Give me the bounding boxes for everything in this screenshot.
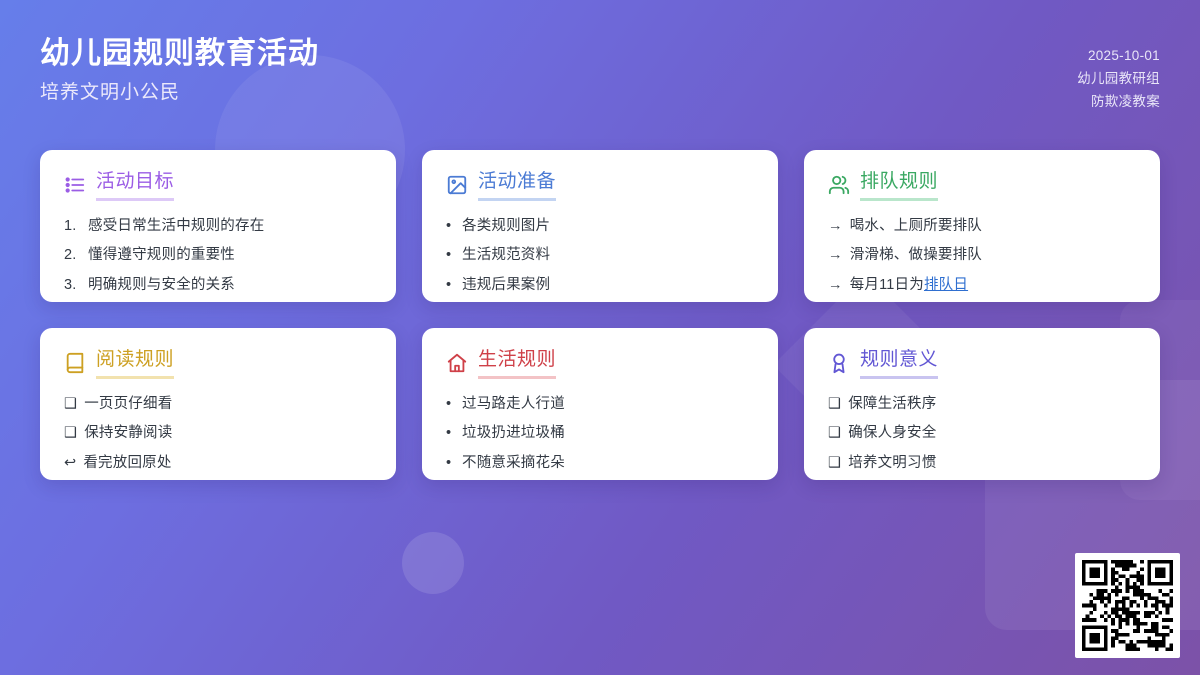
meta-date: 2025-10-01 — [1088, 44, 1160, 67]
card-activity-goals[interactable]: 活动目标1.感受日常生活中规则的存在2.懂得遵守规则的重要性3.明确规则与安全的… — [40, 150, 396, 302]
list-item-text: 明确规则与安全的关系 — [88, 274, 372, 296]
card-rule-meaning[interactable]: 规则意义❑保障生活秩序❑确保人身安全❑培养文明习惯 — [804, 328, 1160, 480]
card-header: 生活规则 — [446, 348, 754, 379]
card-list: →喝水、上厕所要排队→滑滑梯、做操要排队→每月11日为排队日 — [828, 215, 1136, 302]
card-list: •过马路走人行道•垃圾扔进垃圾桶•不随意采摘花朵 — [446, 393, 754, 480]
list-marker: • — [446, 215, 455, 237]
card-activity-preparation[interactable]: 活动准备•各类规则图片•生活规范资料•违规后果案例 — [422, 150, 778, 302]
list-item: •垃圾扔进垃圾桶 — [446, 422, 754, 444]
list-item: →每月11日为排队日 — [828, 274, 1136, 296]
card-queue-rules[interactable]: 排队规则→喝水、上厕所要排队→滑滑梯、做操要排队→每月11日为排队日 — [804, 150, 1160, 302]
list-item: •各类规则图片 — [446, 215, 754, 237]
list-marker: → — [828, 274, 843, 296]
card-title: 阅读规则 — [96, 348, 174, 379]
list-item-text: 各类规则图片 — [462, 215, 754, 237]
home-icon — [446, 352, 468, 374]
list-item-text: 过马路走人行道 — [462, 393, 754, 415]
list-item-text: 不随意采摘花朵 — [462, 452, 754, 474]
list-marker: 2. — [64, 244, 81, 266]
card-header: 阅读规则 — [64, 348, 372, 379]
card-header: 规则意义 — [828, 348, 1136, 379]
list-item: 3.明确规则与安全的关系 — [64, 274, 372, 296]
list-marker: • — [446, 274, 455, 296]
list-marker: → — [828, 244, 843, 266]
list-item: ❑一页页仔细看 — [64, 393, 372, 415]
card-title: 排队规则 — [860, 170, 938, 201]
list-item-text: 保障生活秩序 — [848, 393, 1136, 415]
list-item-text: 垃圾扔进垃圾桶 — [462, 422, 754, 444]
page-subtitle: 培养文明小公民 — [40, 81, 319, 106]
list-marker: ❑ — [64, 422, 77, 444]
list-marker: → — [828, 215, 843, 237]
qr-code-image — [1082, 560, 1173, 651]
list-item-text: 一页页仔细看 — [84, 393, 372, 415]
slide-header: 幼儿园规则教育活动 培养文明小公民 2025-10-01 幼儿园教研组 防欺凌教… — [0, 0, 1200, 148]
list-item: •违规后果案例 — [446, 274, 754, 296]
list-item: ❑保障生活秩序 — [828, 393, 1136, 415]
list-item: ❑保持安静阅读 — [64, 422, 372, 444]
award-icon — [828, 352, 850, 374]
list-item-text: 违规后果案例 — [462, 274, 754, 296]
list-item-text: 每月11日为排队日 — [850, 274, 1136, 296]
meta-doc-type: 防欺凌教案 — [1091, 90, 1160, 113]
title-block: 幼儿园规则教育活动 培养文明小公民 — [40, 34, 319, 106]
list-item: →喝水、上厕所要排队 — [828, 215, 1136, 237]
list-marker: 3. — [64, 274, 81, 296]
page-title: 幼儿园规则教育活动 — [40, 34, 319, 73]
card-title: 规则意义 — [860, 348, 938, 379]
list-marker: • — [446, 452, 455, 474]
card-header: 活动目标 — [64, 170, 372, 201]
card-title: 活动目标 — [96, 170, 174, 201]
list-marker: 1. — [64, 215, 81, 237]
card-title: 活动准备 — [478, 170, 556, 201]
card-list: ❑保障生活秩序❑确保人身安全❑培养文明习惯 — [828, 393, 1136, 480]
card-list: 1.感受日常生活中规则的存在2.懂得遵守规则的重要性3.明确规则与安全的关系 — [64, 215, 372, 302]
list-item: ❑培养文明习惯 — [828, 452, 1136, 474]
list-item-text: 懂得遵守规则的重要性 — [88, 244, 372, 266]
list-item-text: 培养文明习惯 — [848, 452, 1136, 474]
list-marker: ↩ — [64, 452, 76, 474]
list-item: •过马路走人行道 — [446, 393, 754, 415]
list-marker: • — [446, 422, 455, 444]
meta-department: 幼儿园教研组 — [1077, 67, 1160, 90]
cards-grid: 活动目标1.感受日常生活中规则的存在2.懂得遵守规则的重要性3.明确规则与安全的… — [40, 150, 1160, 480]
list-marker: • — [446, 244, 455, 266]
list-item: 1.感受日常生活中规则的存在 — [64, 215, 372, 237]
list-item-text: 感受日常生活中规则的存在 — [88, 215, 372, 237]
card-header: 活动准备 — [446, 170, 754, 201]
list-item: •不随意采摘花朵 — [446, 452, 754, 474]
list-marker: ❑ — [64, 393, 77, 415]
list-item: 2.懂得遵守规则的重要性 — [64, 244, 372, 266]
list-marker: ❑ — [828, 393, 841, 415]
qr-code[interactable] — [1075, 553, 1180, 658]
card-title: 生活规则 — [478, 348, 556, 379]
slide-root: 幼儿园规则教育活动 培养文明小公民 2025-10-01 幼儿园教研组 防欺凌教… — [0, 0, 1200, 675]
list-item: →滑滑梯、做操要排队 — [828, 244, 1136, 266]
list-item-text: 看完放回原处 — [83, 452, 372, 474]
book-icon — [64, 352, 86, 374]
decor-circle-bottom — [402, 532, 464, 594]
list-item: ↩看完放回原处 — [64, 452, 372, 474]
card-list: •各类规则图片•生活规范资料•违规后果案例 — [446, 215, 754, 302]
card-reading-rules[interactable]: 阅读规则❑一页页仔细看❑保持安静阅读↩看完放回原处 — [40, 328, 396, 480]
list-item: ❑确保人身安全 — [828, 422, 1136, 444]
card-life-rules[interactable]: 生活规则•过马路走人行道•垃圾扔进垃圾桶•不随意采摘花朵 — [422, 328, 778, 480]
card-header: 排队规则 — [828, 170, 1136, 201]
image-icon — [446, 174, 468, 196]
list-marker: ❑ — [828, 452, 841, 474]
list-icon — [64, 174, 86, 196]
list-item-text: 滑滑梯、做操要排队 — [850, 244, 1136, 266]
list-item-text: 保持安静阅读 — [84, 422, 372, 444]
list-item-text: 喝水、上厕所要排队 — [850, 215, 1136, 237]
list-marker: • — [446, 393, 455, 415]
header-meta: 2025-10-01 幼儿园教研组 防欺凌教案 — [1077, 34, 1160, 114]
list-item-text: 确保人身安全 — [848, 422, 1136, 444]
list-item: •生活规范资料 — [446, 244, 754, 266]
card-list: ❑一页页仔细看❑保持安静阅读↩看完放回原处 — [64, 393, 372, 480]
list-item-text: 生活规范资料 — [462, 244, 754, 266]
list-marker: ❑ — [828, 422, 841, 444]
list-item-text-plain: 每月11日为 — [850, 277, 924, 293]
inline-link[interactable]: 排队日 — [924, 277, 968, 293]
users-icon — [828, 174, 850, 196]
